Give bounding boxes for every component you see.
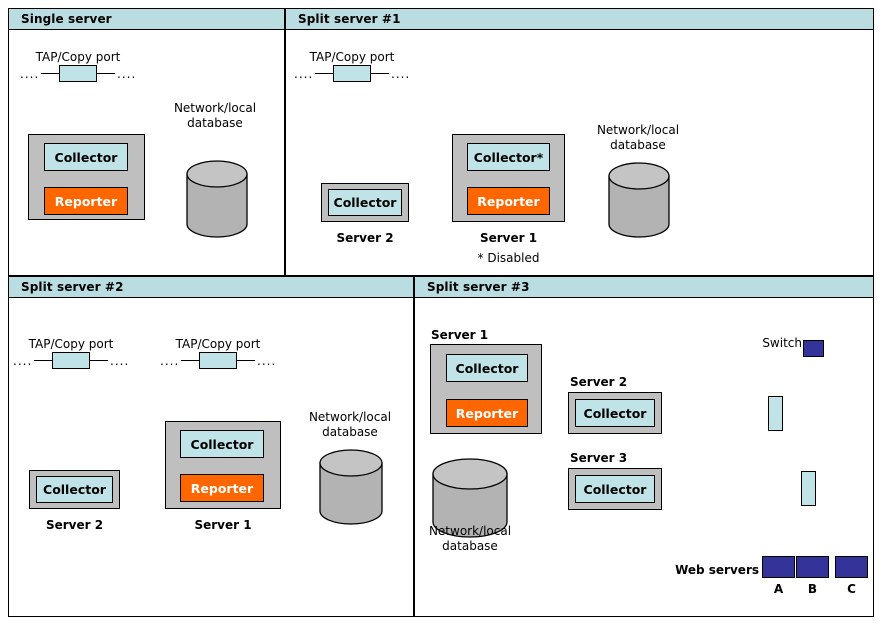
tap-dots-left-a-p3: ....: [13, 359, 32, 363]
database-cylinder-p3: [319, 449, 383, 529]
server1-caption-p4: Server 1: [431, 328, 501, 342]
panel-title: Split server #1: [286, 12, 401, 26]
tap-dots-left-b-p3: ....: [160, 359, 179, 363]
database-label-p3: Network/local database: [295, 410, 405, 440]
panel-title: Single server: [9, 12, 112, 26]
database-label-line1: Network/local: [309, 410, 391, 424]
reporter-box-p3[interactable]: Reporter: [180, 474, 264, 502]
web-server-b-box[interactable]: [796, 556, 829, 578]
web-server-c-box[interactable]: [835, 556, 868, 578]
web-servers-label-p4: Web servers: [655, 563, 759, 577]
server2-caption-p3: Server 2: [29, 518, 120, 532]
tap-wire-left-p2: [315, 73, 333, 74]
server3-caption-p4: Server 3: [570, 451, 640, 465]
panel-title: Split server #2: [9, 280, 124, 294]
tap-dots-right-p2: ....: [391, 72, 410, 76]
tap-wire-left-a-p3: [34, 360, 52, 361]
web-server-a-box[interactable]: [762, 556, 795, 578]
panel-title: Split server #3: [415, 280, 530, 294]
database-label-line1: Network/local: [174, 101, 256, 115]
tap-dots-right-b-p3: ....: [257, 359, 276, 363]
collector-box-server1-p3[interactable]: Collector: [180, 430, 264, 458]
panel-header-split-server-3: Split server #3: [414, 276, 874, 298]
collector-box-server2-p2[interactable]: Collector: [328, 189, 402, 216]
tap-port-box-p1: [59, 65, 97, 82]
switch-box-p4[interactable]: [803, 340, 824, 357]
web-server-c-label: C: [835, 582, 868, 596]
collector-box-server3-p4[interactable]: Collector: [575, 475, 655, 503]
collector-box-server2-p3[interactable]: Collector: [36, 476, 113, 503]
collector-box-server1-p4[interactable]: Collector: [446, 354, 528, 382]
tap-wire-right-a-p3: [90, 360, 108, 361]
database-label-line2: database: [322, 425, 378, 439]
server1-caption-p3: Server 1: [165, 518, 281, 532]
server1-caption-p2: Server 1: [452, 231, 565, 245]
database-label-line1: Network/local: [429, 524, 511, 538]
database-cylinder-p1: [186, 160, 248, 242]
tap-label-left-p3: TAP/Copy port: [8, 337, 134, 352]
tap-label-right-p3: TAP/Copy port: [155, 337, 281, 352]
tap-wire-right-p2: [371, 73, 389, 74]
tap-wire-left-p1: [41, 73, 59, 74]
web-server-a-label: A: [762, 582, 795, 596]
tap-wire-right-p1: [97, 73, 115, 74]
disabled-footnote-p2: * Disabled: [452, 251, 565, 266]
tap-wire-left-b-p3: [181, 360, 199, 361]
collector-box-p1[interactable]: Collector: [44, 143, 128, 171]
database-label-line2: database: [610, 138, 666, 152]
reporter-box-p4[interactable]: Reporter: [446, 399, 528, 427]
server2-caption-p4: Server 2: [570, 375, 640, 389]
database-label-p2: Network/local database: [583, 123, 693, 153]
tap-port-box-p2: [333, 65, 371, 82]
web-server-b-label: B: [796, 582, 829, 596]
tap-dots-left-p2: ....: [294, 72, 313, 76]
database-label-p4: Network/local database: [415, 524, 525, 554]
database-label-line2: database: [442, 539, 498, 553]
diagram-canvas: Single server TAP/Copy port .... .... Co…: [0, 0, 882, 625]
tap-port-box-left-p3: [52, 352, 90, 369]
panel-header-split-server-2: Split server #2: [8, 276, 414, 298]
collector-box-server2-p4[interactable]: Collector: [575, 399, 655, 427]
panel-header-split-server-1: Split server #1: [285, 8, 874, 30]
tap-dots-right-a-p3: ....: [110, 359, 129, 363]
tap-node-upper-p4[interactable]: [768, 396, 783, 431]
database-cylinder-p2: [608, 162, 670, 242]
server2-caption-p2: Server 2: [321, 231, 409, 245]
tap-port-box-right-p3: [199, 352, 237, 369]
database-label-line2: database: [187, 116, 243, 130]
switch-label-p4: Switch: [744, 336, 802, 351]
reporter-box-p2[interactable]: Reporter: [467, 187, 550, 215]
collector-box-server1-p2[interactable]: Collector*: [467, 143, 550, 171]
database-label-p1: Network/local database: [160, 101, 270, 131]
reporter-box-p1[interactable]: Reporter: [44, 187, 128, 215]
panel-header-single-server: Single server: [8, 8, 285, 30]
tap-wire-right-b-p3: [237, 360, 255, 361]
tap-label-p2: TAP/Copy port: [289, 50, 415, 65]
tap-dots-right-p1: ....: [117, 72, 136, 76]
database-label-line1: Network/local: [597, 123, 679, 137]
tap-dots-left-p1: ....: [20, 72, 39, 76]
tap-label-p1: TAP/Copy port: [15, 50, 141, 65]
tap-node-lower-p4[interactable]: [801, 471, 816, 506]
